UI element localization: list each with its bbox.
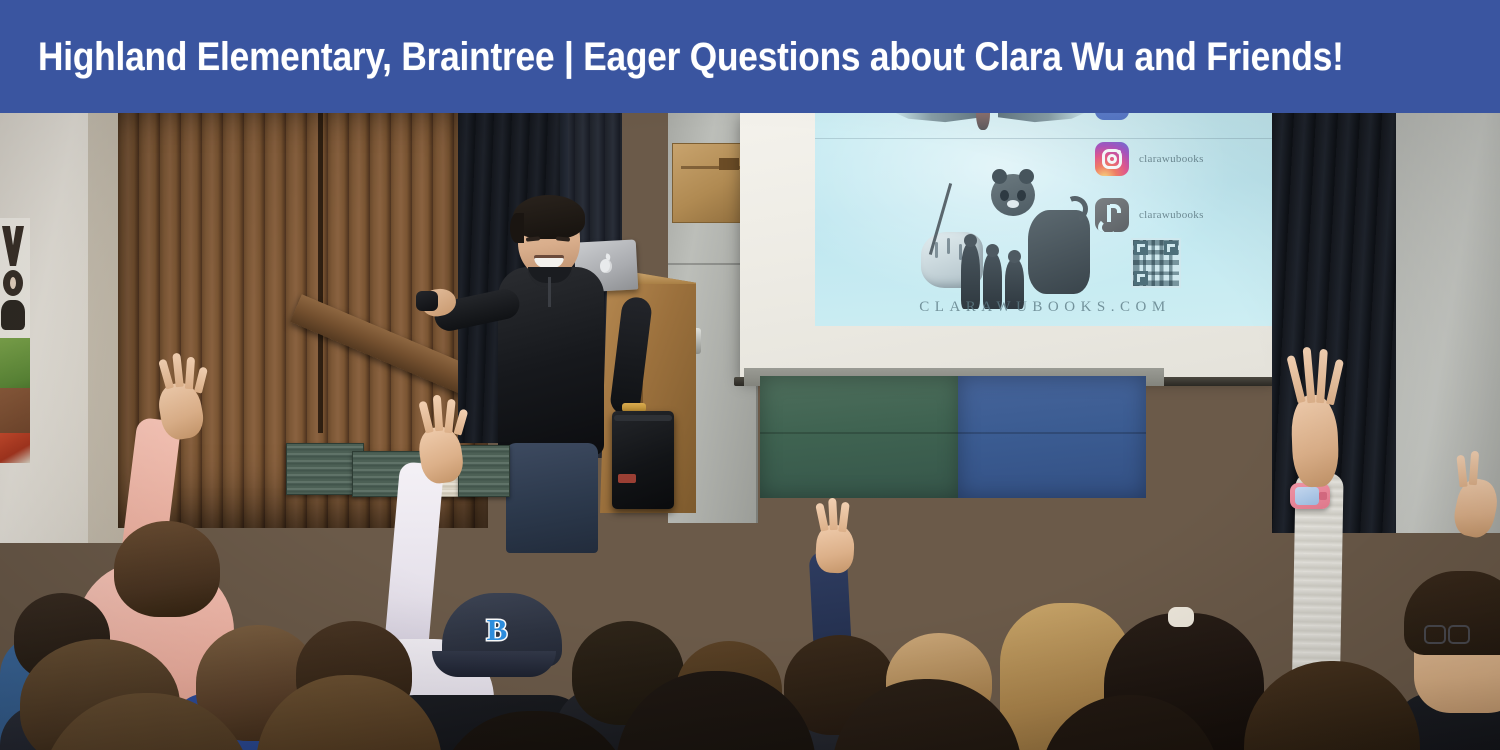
instagram-icon xyxy=(1095,142,1129,176)
character-head xyxy=(1008,250,1021,263)
panda-icon xyxy=(991,174,1035,216)
speaker-top xyxy=(614,415,672,421)
panda-snout xyxy=(1007,200,1019,208)
wing-right xyxy=(998,113,1090,124)
finger xyxy=(1456,455,1467,488)
social-row-instagram: clarawubooks xyxy=(1095,136,1270,182)
social-links-block: clarawubooks clarawubooks xyxy=(1095,113,1270,248)
baseball-cap: B xyxy=(442,593,562,667)
instagram-handle: clarawubooks xyxy=(1139,153,1204,165)
raised-hand xyxy=(1450,475,1500,540)
tiktok-flag xyxy=(1110,204,1121,213)
website-url: CLARAWUBOOKS.COM xyxy=(845,299,1245,316)
tiktok-icon xyxy=(1095,198,1129,232)
wing-body xyxy=(976,113,990,130)
poster-letter-o xyxy=(3,270,23,296)
tiger-stripe xyxy=(947,238,950,254)
screenshot-root: Highland Elementary, Braintree | Eager Q… xyxy=(0,0,1500,750)
eyeglasses xyxy=(1424,625,1470,641)
finger xyxy=(838,502,850,533)
assembly-photo: clarawubooks clarawubooks xyxy=(0,113,1500,750)
presenter-zipper xyxy=(548,277,551,307)
smartwatch-screen xyxy=(1295,487,1319,505)
character-head xyxy=(964,234,977,247)
header-banner: Highland Elementary, Braintree | Eager Q… xyxy=(0,0,1500,113)
child-head-curly xyxy=(1244,661,1420,750)
projection-screen: clarawubooks clarawubooks xyxy=(740,113,1276,378)
qr-corner-bottom-left xyxy=(1134,271,1148,285)
poster-letter-a xyxy=(2,226,24,266)
box-tape xyxy=(719,158,739,170)
qr-code xyxy=(1131,238,1181,288)
page-title: Highland Elementary, Braintree | Eager Q… xyxy=(38,34,1344,80)
audience: B xyxy=(0,443,1500,750)
facebook-icon xyxy=(1095,113,1129,120)
cap-brim xyxy=(432,651,556,677)
panda-eye-left xyxy=(1000,190,1009,201)
poster-letter-b xyxy=(1,300,25,330)
child-head xyxy=(114,521,220,617)
qr-corner-top-left xyxy=(1134,241,1148,255)
ox-horn xyxy=(1058,192,1092,226)
tiktok-handle: clarawubooks xyxy=(1139,209,1204,221)
finger xyxy=(815,502,829,531)
raised-hand xyxy=(815,524,855,574)
hair-clip xyxy=(1168,607,1194,627)
presentation-slide: clarawubooks clarawubooks xyxy=(815,113,1275,326)
social-row-tiktok: clarawubooks xyxy=(1095,192,1270,238)
presenter-hair xyxy=(513,195,585,239)
cap-logo: B xyxy=(480,613,514,647)
ox-icon xyxy=(1028,210,1090,294)
finger xyxy=(828,498,838,530)
smartwatch-button xyxy=(1319,492,1327,500)
instagram-lens xyxy=(1107,154,1117,164)
panda-eye-right xyxy=(1017,190,1026,201)
character-cluster-artwork xyxy=(925,174,1090,309)
qr-corner-top-right xyxy=(1164,241,1178,255)
tiger-stripe xyxy=(935,242,938,258)
social-row-facebook xyxy=(1095,113,1270,126)
instagram-dot xyxy=(1117,150,1121,154)
eagle-wings-artwork xyxy=(890,113,1090,144)
slat-wall-seam xyxy=(318,113,323,433)
wing-left xyxy=(890,113,982,124)
classroom-poster xyxy=(0,218,30,463)
character-head xyxy=(986,244,999,257)
raised-arm-sleeve xyxy=(384,461,444,654)
presentation-clicker xyxy=(416,291,438,311)
